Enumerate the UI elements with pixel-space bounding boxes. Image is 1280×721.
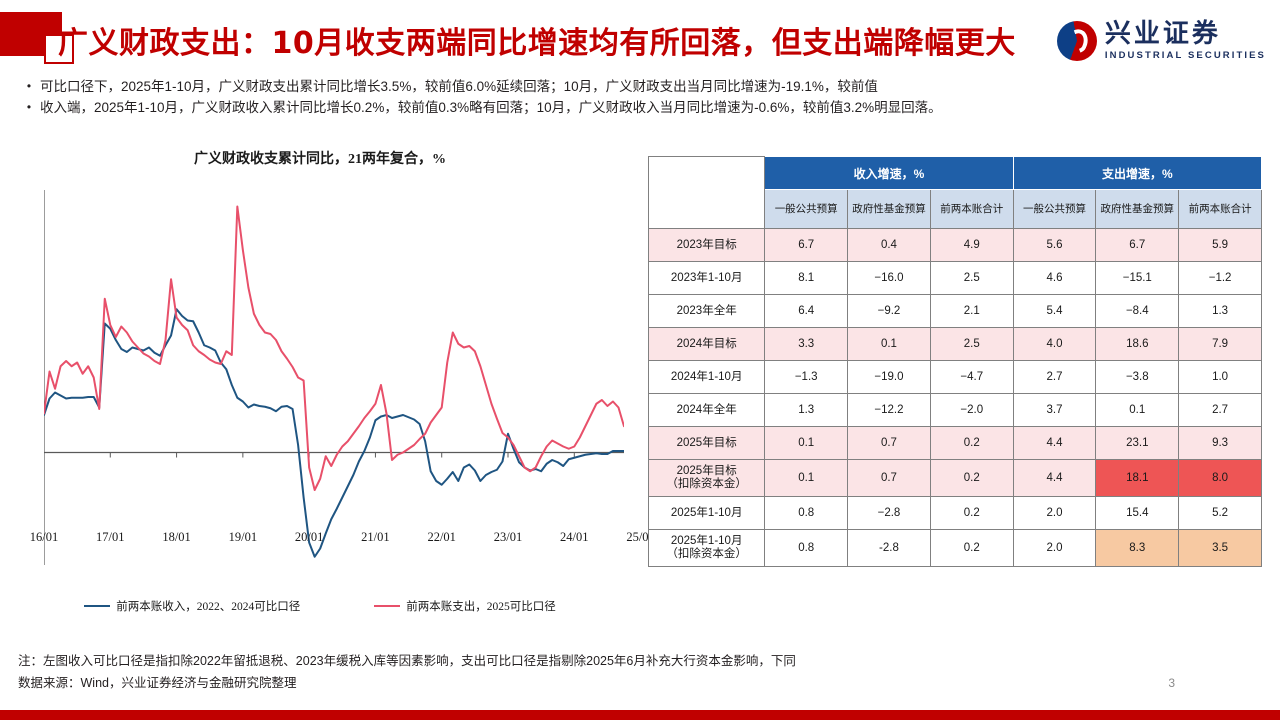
table-cell: 3.5: [1179, 530, 1262, 567]
table-row-label: 2023年目标: [649, 229, 765, 262]
table-cell: −2.0: [930, 394, 1013, 427]
chart-x-tick-label: 21/01: [361, 530, 389, 545]
table-cell: 9.3: [1179, 427, 1262, 460]
bullet-list: • 可比口径下，2025年1-10月，广义财政支出累计同比增长3.5%，较前值6…: [18, 76, 1268, 118]
table-cell: 15.4: [1096, 497, 1179, 530]
legend-item-income: 前两本账收入，2022、2024可比口径: [84, 598, 300, 614]
table-row-label: 2023年全年: [649, 295, 765, 328]
table-body: 2023年目标6.70.44.95.66.75.92023年1-10月8.1−1…: [649, 229, 1262, 567]
table-cell: −9.2: [848, 295, 931, 328]
table-cell: −3.8: [1096, 361, 1179, 394]
table-sub-header-3: 一般公共预算: [1013, 190, 1096, 229]
table-row-label: 2024年1-10月: [649, 361, 765, 394]
bullet-item: • 可比口径下，2025年1-10月，广义财政支出累计同比增长3.5%，较前值6…: [18, 76, 1268, 97]
table-group-header-income: 收入增速，%: [765, 157, 1013, 190]
table-cell: −16.0: [848, 262, 931, 295]
table-row: 2025年目标0.10.70.24.423.19.3: [649, 427, 1262, 460]
table-cell: 5.6: [1013, 229, 1096, 262]
table-group-header-row: 收入增速，% 支出增速，%: [649, 157, 1262, 190]
chart-title: 广义财政收支累计同比，21两年复合，%: [0, 148, 640, 168]
table-cell: −1.3: [765, 361, 848, 394]
table-cell: -2.8: [848, 530, 931, 567]
table-cell: 18.1: [1096, 460, 1179, 497]
table-cell: 0.4: [848, 229, 931, 262]
table-cell: 0.7: [848, 427, 931, 460]
table-cell: 0.8: [765, 497, 848, 530]
table-cell: 5.9: [1179, 229, 1262, 262]
bullet-text: 可比口径下，2025年1-10月，广义财政支出累计同比增长3.5%，较前值6.0…: [40, 76, 1268, 97]
logo-mark-icon: [1057, 21, 1097, 61]
table-cell: 0.1: [848, 328, 931, 361]
table-cell: 2.5: [930, 328, 1013, 361]
chart-x-tick-label: 24/01: [560, 530, 588, 545]
table-cell: 0.1: [765, 427, 848, 460]
chart-x-tick-label: 16/01: [30, 530, 58, 545]
table-cell: 2.7: [1179, 394, 1262, 427]
table-sub-header-1: 政府性基金预算: [848, 190, 931, 229]
table-cell: 0.2: [930, 427, 1013, 460]
table-cell: 6.4: [765, 295, 848, 328]
table-cell: −8.4: [1096, 295, 1179, 328]
table-cell: 4.6: [1013, 262, 1096, 295]
table-cell: 4.4: [1013, 427, 1096, 460]
table-cell: 0.8: [765, 530, 848, 567]
chart-x-tick-label: 23/01: [494, 530, 522, 545]
chart-legend: 前两本账收入，2022、2024可比口径 前两本账支出，2025可比口径: [0, 598, 640, 614]
table-cell: 8.3: [1096, 530, 1179, 567]
table-row-label: 2025年目标: [649, 427, 765, 460]
legend-item-expenditure: 前两本账支出，2025可比口径: [374, 598, 556, 614]
table-group-header-expenditure: 支出增速，%: [1013, 157, 1261, 190]
table-cell: 4.9: [930, 229, 1013, 262]
table-cell: −4.7: [930, 361, 1013, 394]
table-row: 2024年目标3.30.12.54.018.67.9: [649, 328, 1262, 361]
table-row: 2024年全年1.3−12.2−2.03.70.12.7: [649, 394, 1262, 427]
legend-label-income: 前两本账收入，2022、2024可比口径: [116, 598, 300, 614]
table-head: 收入增速，% 支出增速，% 一般公共预算政府性基金预算前两本账合计一般公共预算政…: [649, 157, 1262, 229]
logo-name-cn: 兴业证券: [1105, 21, 1266, 47]
table-row: 2023年1-10月8.1−16.02.54.6−15.1−1.2: [649, 262, 1262, 295]
chart-x-tick-label: 22/01: [427, 530, 455, 545]
bullet-item: • 收入端，2025年1-10月，广义财政收入累计同比增长0.2%，较前值0.3…: [18, 97, 1268, 118]
table-row: 2025年1-10月（扣除资本金）0.8-2.80.22.08.33.5: [649, 530, 1262, 567]
table-cell: 5.4: [1013, 295, 1096, 328]
table-sub-header-5: 前两本账合计: [1179, 190, 1262, 229]
table-cell: 1.3: [765, 394, 848, 427]
table-row-label: 2023年1-10月: [649, 262, 765, 295]
chart-plot-area: [44, 190, 624, 565]
table-cell: −1.2: [1179, 262, 1262, 295]
table-cell: 2.7: [1013, 361, 1096, 394]
chart-series-0: [44, 309, 624, 557]
footer-red-bar: [0, 710, 1280, 720]
table-cell: 8.1: [765, 262, 848, 295]
table-cell: −19.0: [848, 361, 931, 394]
page-number: 3: [1168, 676, 1175, 690]
table-cell: 1.0: [1179, 361, 1262, 394]
chart-x-tick-label: 17/01: [96, 530, 124, 545]
table-cell: 2.0: [1013, 530, 1096, 567]
table-row: 2025年1-10月0.8−2.80.22.015.45.2: [649, 497, 1262, 530]
table-corner-cell: [649, 157, 765, 229]
logo-name-en: INDUSTRIAL SECURITIES: [1105, 51, 1266, 61]
bullet-marker-icon: •: [18, 76, 40, 97]
legend-swatch-income: [84, 605, 110, 608]
logo-text: 兴业证券 INDUSTRIAL SECURITIES: [1105, 21, 1266, 61]
table-sub-header-2: 前两本账合计: [930, 190, 1013, 229]
table-cell: 0.1: [765, 460, 848, 497]
table-cell: 2.0: [1013, 497, 1096, 530]
table-cell: 0.2: [930, 530, 1013, 567]
footer-source: 数据来源：Wind，兴业证券经济与金融研究院整理: [18, 672, 1268, 694]
chart-x-tick-label: 20/01: [295, 530, 323, 545]
table-row-label: 2025年1-10月（扣除资本金）: [649, 530, 765, 567]
table-cell: 18.6: [1096, 328, 1179, 361]
table-cell: 0.7: [848, 460, 931, 497]
table-row: 2023年目标6.70.44.95.66.75.9: [649, 229, 1262, 262]
table-cell: 3.3: [765, 328, 848, 361]
table-cell: 7.9: [1179, 328, 1262, 361]
table-cell: −12.2: [848, 394, 931, 427]
footer-notes: 注：左图收入可比口径是指扣除2022年留抵退税、2023年缓税入库等因素影响，支…: [18, 650, 1268, 694]
page-title: 广义财政支出：10月收支两端同比增速均有所回落，但支出端降幅更大: [58, 18, 1058, 62]
table-row-label: 2025年1-10月: [649, 497, 765, 530]
legend-label-expenditure: 前两本账支出，2025可比口径: [406, 598, 556, 614]
table-cell: 6.7: [1096, 229, 1179, 262]
table-sub-header-4: 政府性基金预算: [1096, 190, 1179, 229]
table-sub-header-0: 一般公共预算: [765, 190, 848, 229]
legend-swatch-expenditure: [374, 605, 400, 608]
footer-note: 注：左图收入可比口径是指扣除2022年留抵退税、2023年缓税入库等因素影响，支…: [18, 650, 1268, 672]
table-row-label: 2024年全年: [649, 394, 765, 427]
table-cell: 8.0: [1179, 460, 1262, 497]
table-row-label: 2024年目标: [649, 328, 765, 361]
table-cell: 4.4: [1013, 460, 1096, 497]
chart-panel: 广义财政收支累计同比，21两年复合，% 35302520151050-5-10-…: [0, 148, 640, 628]
chart-x-tick-label: 18/01: [162, 530, 190, 545]
table-cell: 0.1: [1096, 394, 1179, 427]
table-row: 2023年全年6.4−9.22.15.4−8.41.3: [649, 295, 1262, 328]
table-cell: 2.5: [930, 262, 1013, 295]
table-cell: 2.1: [930, 295, 1013, 328]
table-cell: 0.2: [930, 497, 1013, 530]
table-cell: 6.7: [765, 229, 848, 262]
table-cell: 1.3: [1179, 295, 1262, 328]
company-logo: 兴业证券 INDUSTRIAL SECURITIES: [1057, 18, 1266, 64]
table-cell: 4.0: [1013, 328, 1096, 361]
table-cell: 0.2: [930, 460, 1013, 497]
fiscal-growth-table: 收入增速，% 支出增速，% 一般公共预算政府性基金预算前两本账合计一般公共预算政…: [648, 156, 1262, 567]
table-cell: 3.7: [1013, 394, 1096, 427]
table-row: 2025年目标（扣除资本金）0.10.70.24.418.18.0: [649, 460, 1262, 497]
bullet-text: 收入端，2025年1-10月，广义财政收入累计同比增长0.2%，较前值0.3%略…: [40, 97, 1268, 118]
line-chart-svg: [44, 190, 624, 565]
chart-x-tick-label: 19/01: [229, 530, 257, 545]
table-cell: 5.2: [1179, 497, 1262, 530]
table-cell: −2.8: [848, 497, 931, 530]
table-row-label: 2025年目标（扣除资本金）: [649, 460, 765, 497]
table-cell: −15.1: [1096, 262, 1179, 295]
table-cell: 23.1: [1096, 427, 1179, 460]
bullet-marker-icon: •: [18, 97, 40, 118]
table-row: 2024年1-10月−1.3−19.0−4.72.7−3.81.0: [649, 361, 1262, 394]
